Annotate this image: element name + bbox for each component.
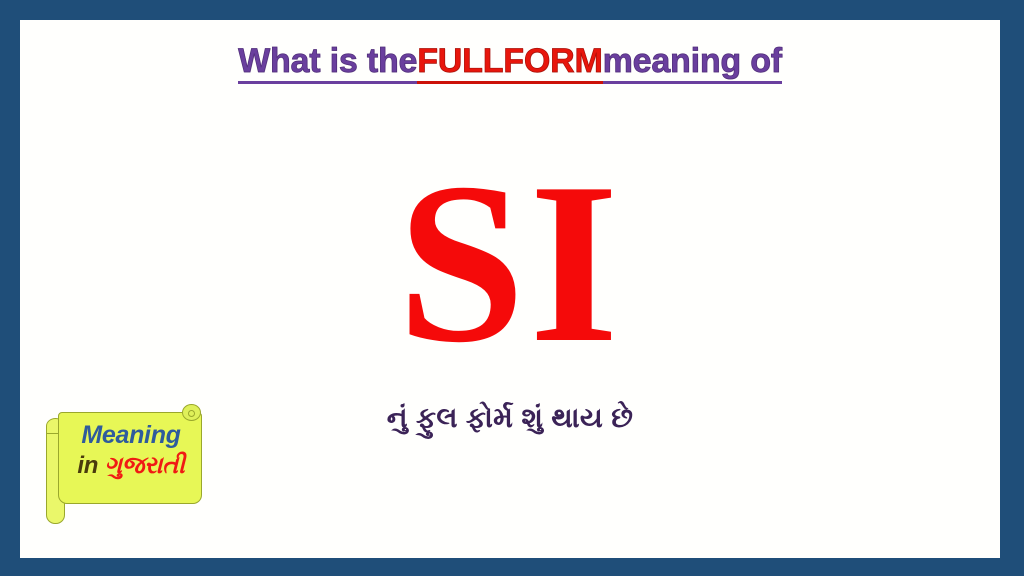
title-suffix-underline bbox=[603, 81, 782, 84]
page-title: What is the FULLFORM meaning of bbox=[20, 42, 1000, 84]
abbreviation-text: SI bbox=[20, 148, 1000, 378]
title-highlight-segment: FULLFORM bbox=[417, 42, 602, 84]
brand-logo-line2: in ગુજરાતી bbox=[62, 451, 200, 480]
title-suffix: meaning of bbox=[603, 42, 782, 80]
title-prefix: What is the bbox=[238, 42, 417, 80]
poster-frame: What is the FULLFORM meaning of SI નું ફ… bbox=[0, 0, 1024, 576]
scroll-right-curl-icon bbox=[182, 404, 201, 421]
title-suffix-segment: meaning of bbox=[603, 42, 782, 84]
brand-logo-text: Meaning in ગુજરાતી bbox=[62, 420, 200, 480]
title-prefix-underline bbox=[238, 81, 417, 84]
brand-logo: Meaning in ગુજરાતી bbox=[32, 402, 222, 532]
brand-logo-language: ગુજરાતી bbox=[105, 452, 185, 479]
title-highlight: FULLFORM bbox=[417, 42, 602, 80]
title-prefix-segment: What is the bbox=[238, 42, 417, 84]
title-highlight-underline bbox=[417, 81, 602, 84]
brand-logo-line1: Meaning bbox=[62, 420, 200, 451]
poster-canvas: What is the FULLFORM meaning of SI નું ફ… bbox=[20, 20, 1000, 558]
brand-logo-in: in bbox=[77, 452, 104, 479]
